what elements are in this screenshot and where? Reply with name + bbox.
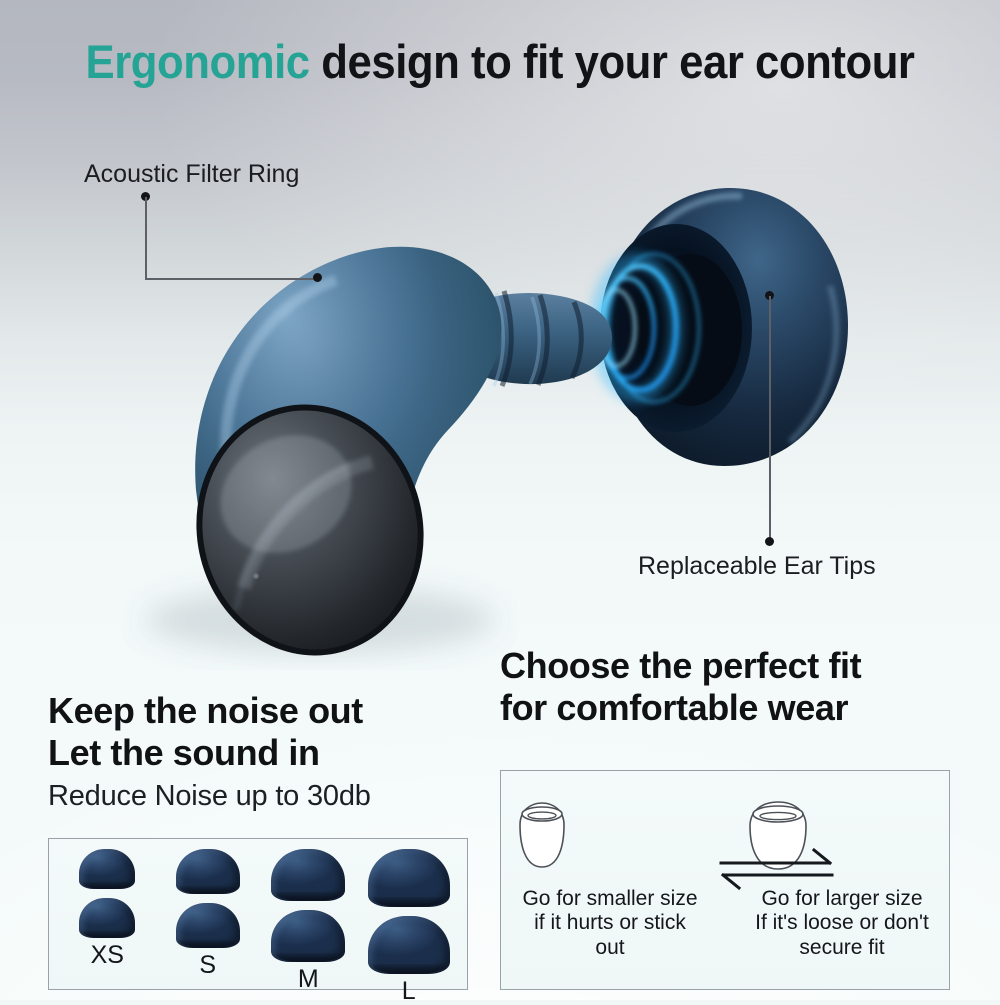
fit-guide-inner: Go for smaller size if it hurts or stick… bbox=[501, 771, 949, 989]
ear-tip-m-bottom bbox=[271, 910, 345, 962]
ear-tip-label-xs: XS bbox=[91, 943, 124, 968]
ear-tip-xs-top bbox=[79, 849, 135, 889]
callout-leader-filter-horizontal bbox=[145, 278, 318, 280]
ear-tip-pair-s bbox=[176, 849, 240, 948]
ear-tip-xs-bottom bbox=[79, 898, 135, 938]
callout-dot-filter-end bbox=[313, 273, 322, 282]
noise-heading-line1: Keep the noise out bbox=[48, 690, 468, 732]
ear-tip-l-top bbox=[368, 849, 450, 907]
ear-tip-outline-small-icon bbox=[505, 797, 579, 877]
fit-caption-larger-line2: If it's loose or don't bbox=[737, 911, 947, 935]
fit-guide-panel: Go for smaller size if it hurts or stick… bbox=[500, 770, 950, 990]
fit-heading-line1: Choose the perfect fit bbox=[500, 645, 950, 687]
callout-leader-tips-vertical bbox=[769, 296, 771, 542]
fit-block: Choose the perfect fit for comfortable w… bbox=[500, 645, 950, 729]
ear-tip-sizes-panel: XS S M L bbox=[48, 838, 468, 990]
ear-tip-l-bottom bbox=[368, 916, 450, 974]
ear-tip-size-grid: XS S M L bbox=[49, 839, 467, 989]
ear-tip-s-bottom bbox=[176, 903, 240, 948]
ear-tip-size-column-m[interactable]: M bbox=[258, 849, 359, 1004]
fit-caption-smaller-line1: Go for smaller size bbox=[505, 887, 715, 911]
callout-label-replaceable-ear-tips: Replaceable Ear Tips bbox=[638, 552, 876, 581]
page-title-rest: design to fit your ear contour bbox=[310, 35, 915, 88]
ear-tip-label-s: S bbox=[199, 953, 216, 978]
ear-tip-m-top bbox=[271, 849, 345, 901]
ear-tip-size-column-s[interactable]: S bbox=[158, 849, 259, 1004]
ear-tip-pair-m bbox=[271, 849, 345, 962]
fit-caption-smaller-line3: out bbox=[505, 936, 715, 960]
page-title: Ergonomic design to fit your ear contour bbox=[35, 34, 965, 89]
noise-heading-line2: Let the sound in bbox=[48, 732, 468, 774]
ear-tip-size-column-xs[interactable]: XS bbox=[57, 849, 158, 1004]
ear-tip-label-m: M bbox=[298, 967, 319, 992]
ear-tip-size-column-l[interactable]: L bbox=[359, 849, 460, 1004]
callout-label-acoustic-filter-ring: Acoustic Filter Ring bbox=[84, 160, 299, 189]
ear-tip-label-l: L bbox=[402, 979, 416, 1004]
fit-heading-line2: for comfortable wear bbox=[500, 687, 950, 729]
fit-caption-larger: Go for larger size If it's loose or don'… bbox=[737, 887, 947, 960]
callout-dot-tips-end bbox=[765, 537, 774, 546]
fit-caption-smaller-line2: if it hurts or stick bbox=[505, 911, 715, 935]
ear-tip-pair-l bbox=[368, 849, 450, 974]
noise-subtitle: Reduce Noise up to 30db bbox=[48, 780, 468, 813]
exchange-arrows bbox=[719, 847, 834, 895]
ear-tip-dome bbox=[600, 188, 848, 466]
fit-caption-smaller: Go for smaller size if it hurts or stick… bbox=[505, 887, 715, 960]
ear-tip-pair-xs bbox=[79, 849, 135, 938]
callout-leader-filter-vertical bbox=[145, 197, 147, 279]
ear-tip-s-top bbox=[176, 849, 240, 894]
fit-option-smaller[interactable]: Go for smaller size if it hurts or stick… bbox=[505, 797, 715, 960]
fit-caption-larger-line3: secure fit bbox=[737, 936, 947, 960]
double-exchange-arrow-icon bbox=[719, 847, 834, 895]
page-title-accent: Ergonomic bbox=[86, 35, 310, 88]
noise-block: Keep the noise out Let the sound in Redu… bbox=[48, 690, 468, 813]
